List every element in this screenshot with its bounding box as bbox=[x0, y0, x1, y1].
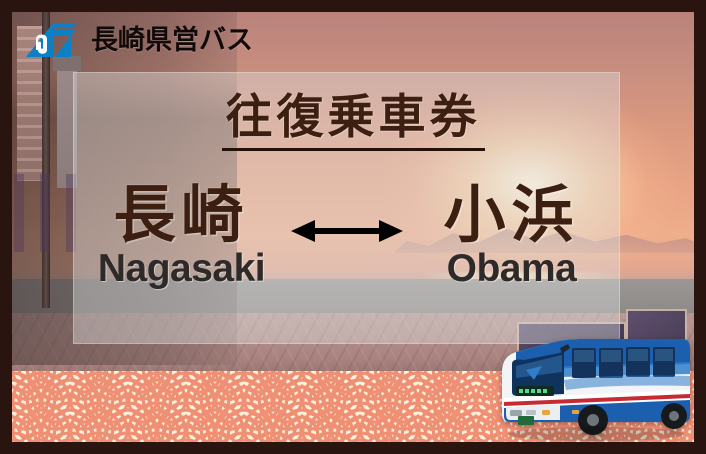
destination-name-jp: 小浜 bbox=[407, 182, 617, 247]
company-name: 長崎県営バス bbox=[91, 27, 253, 54]
destination-stop: 小浜 Obama bbox=[407, 182, 617, 290]
nagasaki-kenei-bus-logo-icon bbox=[24, 20, 80, 60]
origin-name-en: Nagasaki bbox=[77, 249, 287, 290]
route-row: 長崎 Nagasaki 小浜 Obama bbox=[73, 182, 620, 290]
origin-stop: 長崎 Nagasaki bbox=[77, 182, 287, 290]
ticket-title: 往復乗車券 bbox=[222, 93, 485, 151]
ticket-title-row: 往復乗車券 bbox=[0, 93, 706, 151]
destination-name-en: Obama bbox=[407, 249, 617, 290]
double-headed-arrow-icon bbox=[291, 218, 403, 244]
route-connector bbox=[287, 182, 407, 244]
company-header: 長崎県営バス bbox=[24, 20, 253, 60]
nagasaki-kenei-bus-coach-photo bbox=[496, 330, 692, 442]
origin-name-jp: 長崎 bbox=[77, 182, 287, 247]
festival-lanterns bbox=[14, 174, 82, 252]
round-trip-ticket-banner: 長崎県営バス 往復乗車券 長崎 Nagasaki 小浜 Obama bbox=[0, 0, 706, 454]
